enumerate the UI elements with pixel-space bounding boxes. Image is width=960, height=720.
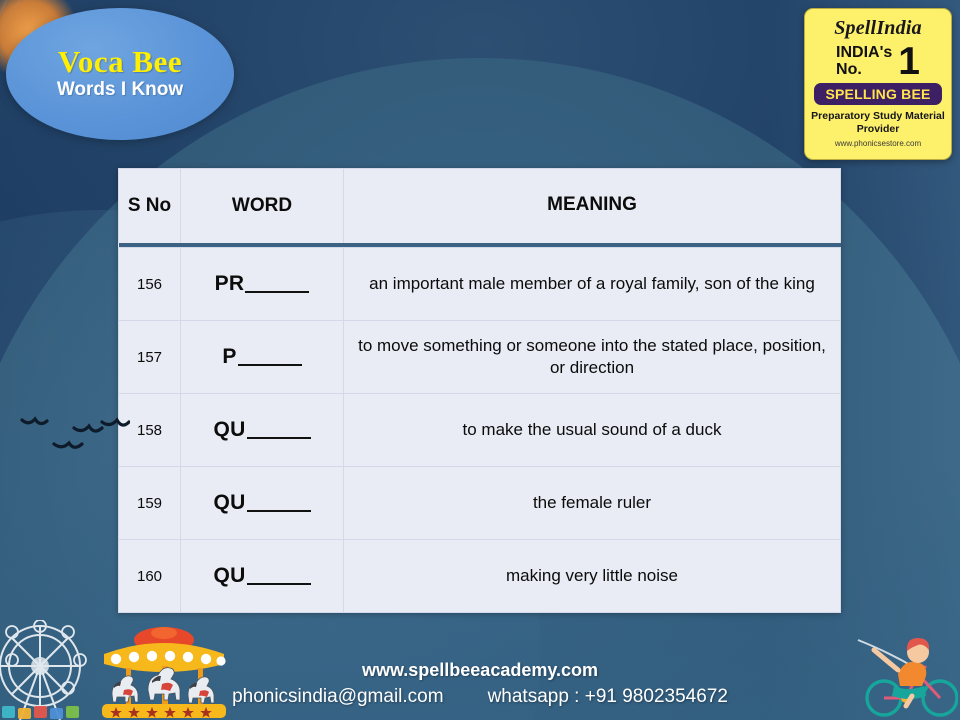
cyclist-decoration [854,626,958,718]
carousel-decoration [96,624,232,720]
spellindia-logo: SpellIndia INDIA's No. 1 SPELLING BEE Pr… [804,8,952,160]
logo-rank-block: INDIA's No. 1 [811,45,945,78]
word-prompt: QU [213,491,310,514]
word-prompt: PR [215,272,310,295]
ferris-wheel-decoration [0,620,96,720]
cell-sno: 160 [119,540,181,613]
cell-word: PR [181,248,344,321]
logo-rank-line1: INDIA's [836,45,892,61]
column-header-meaning: MEANING [344,169,841,243]
cell-meaning: to make the usual sound of a duck [344,394,841,467]
word-blank [238,364,302,366]
cell-sno: 157 [119,321,181,394]
logo-website-url: www.phonicsestore.com [835,139,921,148]
word-prefix: PR [215,272,245,295]
word-blank [247,437,311,439]
slide-canvas: Voca Bee Words I Know SpellIndia INDIA's… [0,0,960,720]
page-subtitle: Words I Know [57,79,183,102]
cell-sno: 159 [119,467,181,540]
word-prefix: QU [213,418,245,441]
cell-word: P [181,321,344,394]
table-row: 156PRan important male member of a royal… [119,248,841,321]
column-header-word: WORD [181,169,344,243]
word-blank [247,510,311,512]
word-prefix: QU [213,564,245,587]
logo-rank-line2: No. [836,62,892,78]
logo-brand-name: SpellIndia [834,17,922,40]
word-blank [245,291,309,293]
table-row: 159QUthe female ruler [119,467,841,540]
cell-sno: 156 [119,248,181,321]
cell-meaning: to move something or someone into the st… [344,321,841,394]
word-blank [247,583,311,585]
logo-spelling-bee-banner: SPELLING BEE [814,83,942,105]
table-row: 157Pto move something or someone into th… [119,321,841,394]
table-header-row: S No WORD MEANING [119,169,841,243]
word-prompt: P [222,345,301,368]
logo-tagline: Preparatory Study Material Provider [811,110,945,136]
cell-meaning: an important male member of a royal fami… [344,248,841,321]
cell-meaning: making very little noise [344,540,841,613]
column-header-sno: S No [119,169,181,243]
cell-word: QU [181,394,344,467]
table-body: 156PRan important male member of a royal… [119,248,841,613]
cell-word: QU [181,540,344,613]
page-title: Voca Bee [58,46,182,77]
cell-word: QU [181,467,344,540]
title-badge: Voca Bee Words I Know [6,8,234,140]
cell-meaning: the female ruler [344,467,841,540]
flying-birds-decoration [18,404,130,466]
word-prompt: QU [213,564,310,587]
logo-rank-number: 1 [898,45,920,78]
logo-rank-label: INDIA's No. [836,45,892,78]
table-row: 160QUmaking very little noise [119,540,841,613]
word-prompt: QU [213,418,310,441]
word-prefix: QU [213,491,245,514]
vocabulary-table: S No WORD MEANING 156PRan important male… [118,168,841,613]
table-header: S No WORD MEANING [119,169,841,248]
word-prefix: P [222,345,236,368]
table-row: 158QUto make the usual sound of a duck [119,394,841,467]
